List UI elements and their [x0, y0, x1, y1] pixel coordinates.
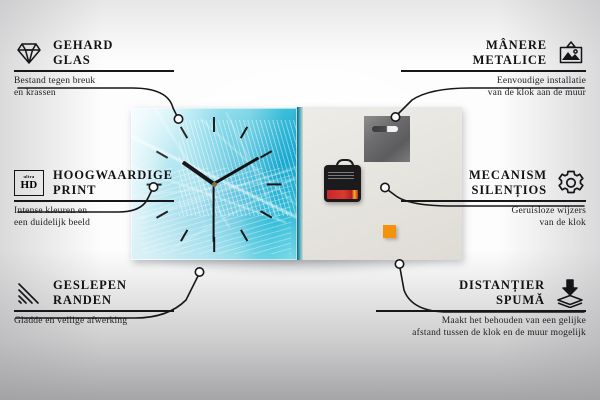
feature-title: MECANISM SILENȚIOS [469, 168, 547, 198]
feature-divider [376, 310, 586, 312]
feature-divider [14, 70, 174, 72]
ultra-hd-icon: ultra HD [14, 170, 44, 196]
gear-icon [556, 169, 586, 197]
feature-title: GEHARD GLAS [53, 38, 113, 68]
feature-title: HOOGWAARDIGE PRINT [53, 168, 173, 198]
feature-divider [401, 200, 586, 202]
hanging-picture-icon [556, 40, 586, 66]
feature-title: DISTANȚIER SPUMĂ [459, 278, 545, 308]
feature-description: Intense kleuren en een duidelijk beeld [14, 205, 189, 229]
foam-spacer-pad [383, 225, 396, 238]
feature-geslepen-randen: GESLEPEN RANDEN Gladde en veilige afwerk… [14, 278, 189, 327]
mechanism-label [328, 172, 354, 181]
feature-title: GESLEPEN RANDEN [53, 278, 127, 308]
feature-divider [14, 310, 174, 312]
feature-title: MÂNERE METALICE [473, 38, 547, 68]
mechanism-hanging-loop [336, 159, 354, 170]
feature-divider [14, 200, 174, 202]
metal-hanger-plate [364, 116, 410, 162]
aa-battery [327, 190, 358, 199]
product-feature-infographic: GEHARD GLAS Bestand tegen breuk en krass… [0, 0, 600, 400]
feature-description: Bestand tegen breuk en krassen [14, 75, 189, 99]
clock-side-edge [297, 107, 303, 260]
feature-distantier-spuma: DISTANȚIER SPUMĂ Maakt het behouden van … [376, 278, 586, 339]
spacer-stack-icon [554, 278, 586, 308]
feature-hoogwaardige-print: ultra HD HOOGWAARDIGE PRINT Intense kleu… [14, 168, 189, 229]
feature-description: Geruisloze wijzers van de klok [401, 205, 586, 229]
diamond-icon [14, 41, 44, 66]
feature-mecanism-silentios: MECANISM SILENȚIOS Geruisloze wijzers va… [401, 168, 586, 229]
beveled-edges-icon [14, 281, 44, 306]
quartz-mechanism-box [324, 165, 361, 202]
feature-description: Maakt het behouden van een gelijke afsta… [376, 315, 586, 339]
feature-description: Gladde en veilige afwerking [14, 315, 189, 327]
feature-description: Eenvoudige installatie van de klok aan d… [401, 75, 586, 99]
ultra-hd-large-label: HD [20, 180, 37, 191]
feature-divider [401, 70, 586, 72]
feature-gehard-glas: GEHARD GLAS Bestand tegen breuk en krass… [14, 38, 189, 99]
feature-manere-metalice: MÂNERE METALICE Eenvoudige installatie v… [401, 38, 586, 99]
hanger-keyhole-slot [372, 126, 398, 132]
